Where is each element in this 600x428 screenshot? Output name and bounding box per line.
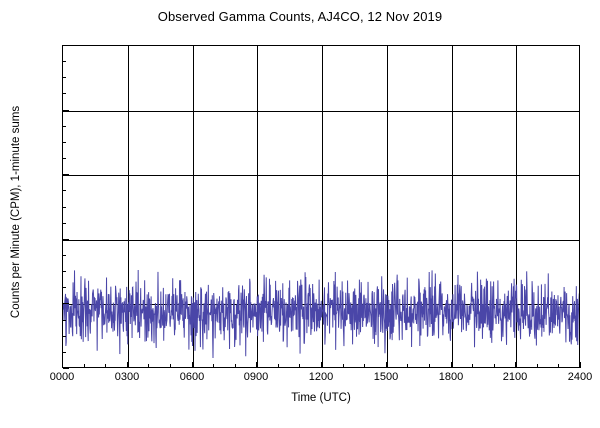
x-tick-label: 1800 — [439, 371, 463, 383]
y-axis-label: Counts per Minute (CPM), 1-minute sums — [10, 62, 22, 362]
gamma-counts-figure: Observed Gamma Counts, AJ4CO, 12 Nov 201… — [0, 0, 600, 428]
x-axis-label: Time (UTC) — [62, 392, 580, 404]
x-tick-major — [580, 362, 581, 368]
data-line — [63, 270, 580, 358]
x-tick-label: 0000 — [50, 371, 74, 383]
chart-title: Observed Gamma Counts, AJ4CO, 12 Nov 201… — [0, 9, 600, 24]
plot-svg — [63, 46, 580, 368]
plot-area[interactable] — [62, 45, 580, 368]
y-tick-major — [63, 368, 69, 369]
x-tick-label: 2400 — [568, 371, 592, 383]
x-tick-label: 1500 — [374, 371, 398, 383]
x-tick-label: 0300 — [115, 371, 139, 383]
x-tick-label: 2100 — [503, 371, 527, 383]
x-tick-label: 0900 — [244, 371, 268, 383]
x-tick-label: 1200 — [309, 371, 333, 383]
x-tick-label: 0600 — [180, 371, 204, 383]
data-series-gamma-cpm — [63, 270, 580, 358]
